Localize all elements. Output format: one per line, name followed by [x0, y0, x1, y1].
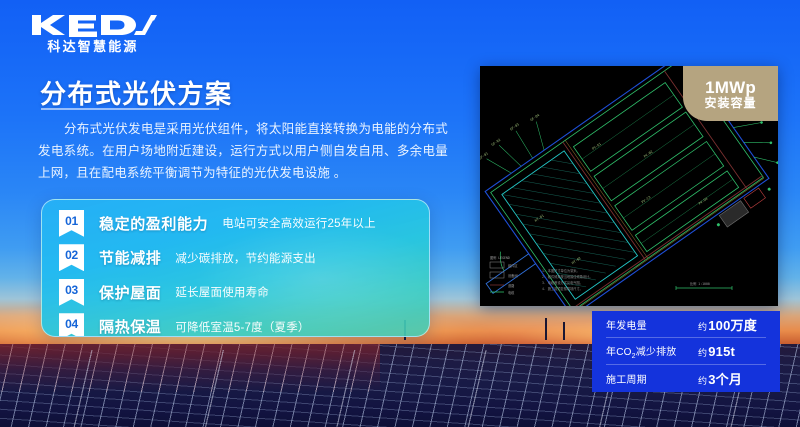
svg-text:比例 1:1000: 比例 1:1000 — [690, 281, 710, 286]
approx-prefix: 约 — [698, 348, 707, 358]
feature-item-01[interactable]: 01 稳定的盈利能力 电站可安全高效运行25年以上 — [42, 206, 429, 241]
pylon-icon — [545, 318, 547, 340]
key-metrics-panel: 年发电量 约100万度 年CO2减少排放 约915t 施工周期 约3个月 — [592, 311, 780, 392]
feature-item-03[interactable]: 03 保护屋面 延长屋面使用寿命 — [42, 275, 429, 310]
metric-label-pre: 年CO — [606, 347, 632, 358]
feature-number: 02 — [65, 249, 78, 261]
capacity-label: 安装容量 — [704, 97, 756, 109]
brand-logo[interactable]: 科达智慧能源 — [28, 12, 158, 53]
metric-value: 约3个月 — [698, 369, 742, 388]
svg-text:电缆: 电缆 — [508, 290, 515, 295]
feature-title: 节能减排 — [99, 247, 161, 268]
svg-text:设备间: 设备间 — [508, 273, 518, 278]
svg-text:3. 电缆敷设方式见电气图。: 3. 电缆敷设方式见电气图。 — [542, 280, 583, 285]
metric-number: 915t — [708, 344, 735, 359]
number-badge-icon: 03 — [59, 279, 84, 306]
capacity-value: 1MWp — [705, 79, 756, 96]
approx-prefix: 约 — [698, 376, 707, 386]
metric-number: 3个月 — [708, 372, 742, 387]
svg-text:4. 施工前须复核现场尺寸。: 4. 施工前须复核现场尺寸。 — [542, 286, 583, 291]
intro-paragraph: 分布式光伏发电是采用光伏组件，将太阳能直接转换为电能的分布式发电系统。在用户场地… — [38, 118, 448, 184]
number-badge-icon: 01 — [59, 210, 84, 237]
svg-text:1. 本图尺寸单位为毫米。: 1. 本图尺寸单位为毫米。 — [542, 268, 580, 273]
page-title: 分布式光伏方案 — [40, 74, 233, 111]
title-underline — [41, 108, 219, 110]
metric-row-construction-period: 施工周期 约3个月 — [606, 365, 766, 392]
metric-row-co2-reduction: 年CO2减少排放 约915t — [606, 338, 766, 365]
slide-stage: 科达智慧能源 分布式光伏方案 分布式光伏发电是采用光伏组件，将太阳能直接转换为电… — [0, 0, 800, 427]
metric-value: 约915t — [698, 344, 735, 359]
metric-label: 年CO2减少排放 — [606, 343, 698, 360]
svg-text:道路: 道路 — [508, 283, 515, 288]
feature-desc: 可降低室温5-7度（夏季） — [175, 319, 309, 335]
metric-label: 施工周期 — [606, 371, 698, 386]
metric-number: 100万度 — [708, 318, 757, 333]
feature-number: 03 — [65, 284, 78, 296]
feature-title: 保护屋面 — [99, 282, 161, 303]
benefits-card: 01 稳定的盈利能力 电站可安全高效运行25年以上 02 节能减排 减少碳排放，… — [41, 199, 430, 337]
approx-prefix: 约 — [698, 322, 707, 332]
metric-row-annual-output: 年发电量 约100万度 — [606, 311, 766, 338]
feature-title: 稳定的盈利能力 — [99, 213, 208, 234]
brand-name-cn: 科达智慧能源 — [28, 40, 158, 53]
feature-title: 隔热保温 — [99, 316, 161, 337]
svg-text:图例 LEGEND: 图例 LEGEND — [490, 255, 510, 260]
svg-text:2. 组件倾角按当地最佳倾角设计。: 2. 组件倾角按当地最佳倾角设计。 — [542, 274, 592, 279]
metric-label-post: 减少排放 — [636, 347, 677, 358]
feature-item-04[interactable]: 04 隔热保温 可降低室温5-7度（夏季） — [42, 310, 429, 338]
keda-logo-icon — [28, 12, 158, 38]
feature-item-02[interactable]: 02 节能减排 减少碳排放，节约能源支出 — [42, 241, 429, 276]
metric-label: 年发电量 — [606, 317, 698, 332]
pylon-icon — [563, 322, 565, 340]
number-badge-icon: 02 — [59, 244, 84, 271]
feature-desc: 电站可安全高效运行25年以上 — [222, 215, 376, 231]
site-plan-image[interactable]: GF-01GF-02 GF-03GF-04 PV-A1PV-B2 PV-C3PV… — [480, 66, 778, 306]
feature-desc: 延长屋面使用寿命 — [175, 284, 269, 300]
feature-number: 04 — [65, 318, 78, 330]
metric-value: 约100万度 — [698, 315, 757, 334]
svg-text:组件区: 组件区 — [508, 263, 518, 268]
capacity-badge: 1MWp 安装容量 — [683, 66, 778, 121]
feature-number: 01 — [65, 215, 78, 227]
number-badge-icon: 04 — [59, 313, 84, 337]
feature-desc: 减少碳排放，节约能源支出 — [175, 250, 315, 266]
